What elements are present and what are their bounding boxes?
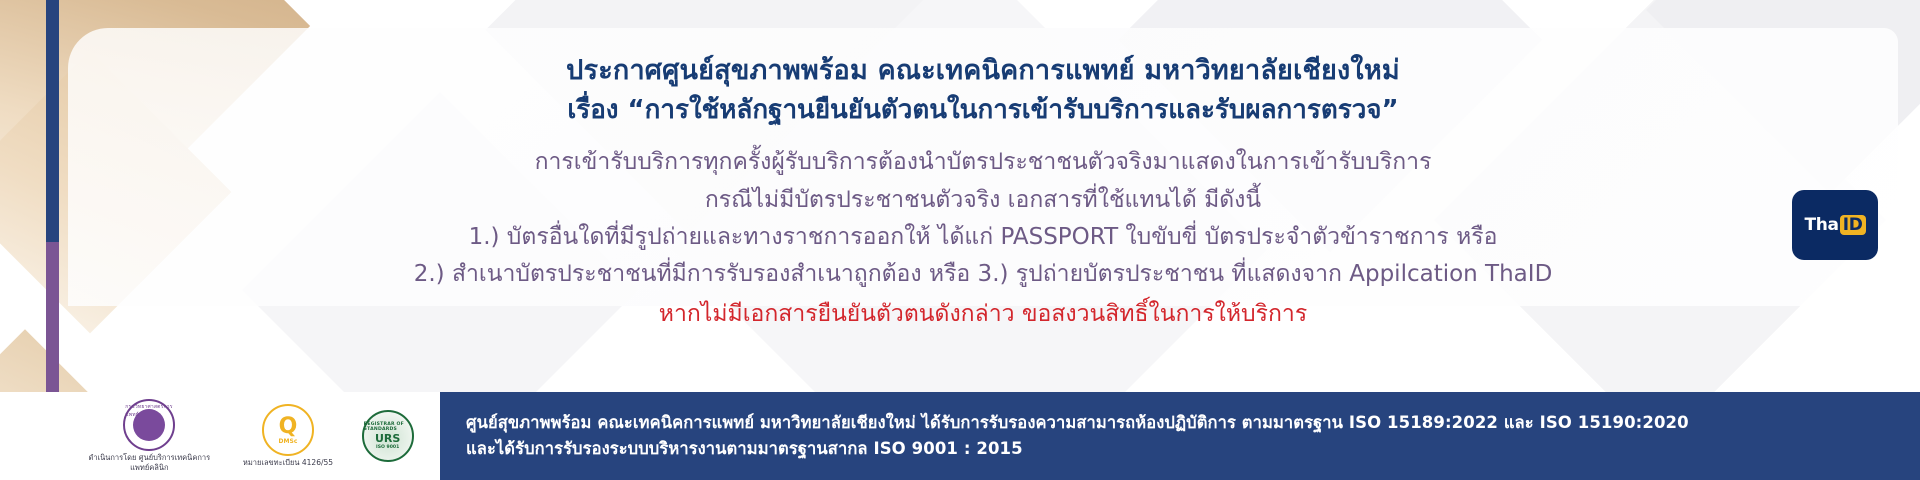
accreditation-logo-qmark: Q DMSc หมายเลขทะเบียน 4126/55: [243, 404, 333, 468]
accreditation-caption-0: ดำเนินการโดย ศูนย์บริการเทคนิคการแพทย์คล…: [84, 453, 214, 473]
thaid-logo-badge: ThaID: [1792, 190, 1878, 260]
footer-bar: กรมวิทยาศาสตร์การแพทย์ ดำเนินการโดย ศูนย…: [0, 392, 1920, 480]
accreditation-caption-1: หมายเลขทะเบียน 4126/55: [243, 458, 333, 468]
seal-green-top-text: REGISTRAR OF STANDARDS: [364, 422, 412, 432]
seal-gold-icon: Q DMSc: [262, 404, 314, 456]
seal-purple-icon: กรมวิทยาศาสตร์การแพทย์: [123, 399, 175, 451]
accreditation-logo-urs: REGISTRAR OF STANDARDS URS ISO 9001: [362, 410, 414, 462]
footer-line-1: ศูนย์สุขภาพพร้อม คณะเทคนิคการแพทย์ มหาวิ…: [466, 410, 1920, 436]
thaid-logo-text-id: ID: [1840, 215, 1866, 235]
thaid-logo-text: ThaID: [1804, 215, 1865, 235]
footer-text-block: ศูนย์สุขภาพพร้อม คณะเทคนิคการแพทย์ มหาวิ…: [440, 392, 1920, 480]
announcement-body-line-2: กรณีไม่มีบัตรประชาชนตัวจริง เอกสารที่ใช้…: [68, 184, 1898, 217]
seal-gold-sub-label: DMSc: [279, 438, 298, 445]
rail-purple: [46, 242, 59, 392]
seal-green-mark: URS: [375, 432, 400, 445]
rail-blue: [46, 0, 59, 242]
announcement-banner: ประกาศศูนย์สุขภาพพร้อม คณะเทคนิคการแพทย์…: [0, 0, 1920, 480]
announcement-body-line-3: 1.) บัตรอื่นใดที่มีรูปถ่ายและทางราชการออ…: [68, 221, 1898, 254]
announcement-body-line-1: การเข้ารับบริการทุกครั้งผู้รับบริการต้อง…: [68, 146, 1898, 179]
footer-line-2: และได้รับการรับรองระบบบริหารงานตามมาตรฐา…: [466, 436, 1920, 462]
announcement-content: ประกาศศูนย์สุขภาพพร้อม คณะเทคนิคการแพทย์…: [68, 28, 1898, 306]
accreditation-logos: กรมวิทยาศาสตร์การแพทย์ ดำเนินการโดย ศูนย…: [0, 392, 440, 480]
accreditation-logo-dmsc-lab: กรมวิทยาศาสตร์การแพทย์ ดำเนินการโดย ศูนย…: [84, 399, 214, 473]
announcement-body-line-4: 2.) สำเนาบัตรประชาชนที่มีการรับรองสำเนาถ…: [68, 258, 1898, 291]
announcement-warning-line: หากไม่มีเอกสารยืนยันตัวตนดังกล่าว ขอสงวน…: [68, 298, 1898, 330]
announcement-title-line-2: เรื่อง “การใช้หลักฐานยืนยันตัวตนในการเข้…: [68, 94, 1898, 127]
thaid-logo-text-tha: Tha: [1804, 215, 1838, 235]
seal-green-icon: REGISTRAR OF STANDARDS URS ISO 9001: [362, 410, 414, 462]
announcement-title-line-1: ประกาศศูนย์สุขภาพพร้อม คณะเทคนิคการแพทย์…: [68, 54, 1898, 88]
thaid-logo-inner: ThaID: [1798, 197, 1872, 253]
seal-green-bottom-text: ISO 9001: [376, 445, 399, 450]
seal-gold-q-icon: Q: [279, 416, 298, 438]
seal-purple-ring-text: กรมวิทยาศาสตร์การแพทย์: [125, 401, 173, 449]
